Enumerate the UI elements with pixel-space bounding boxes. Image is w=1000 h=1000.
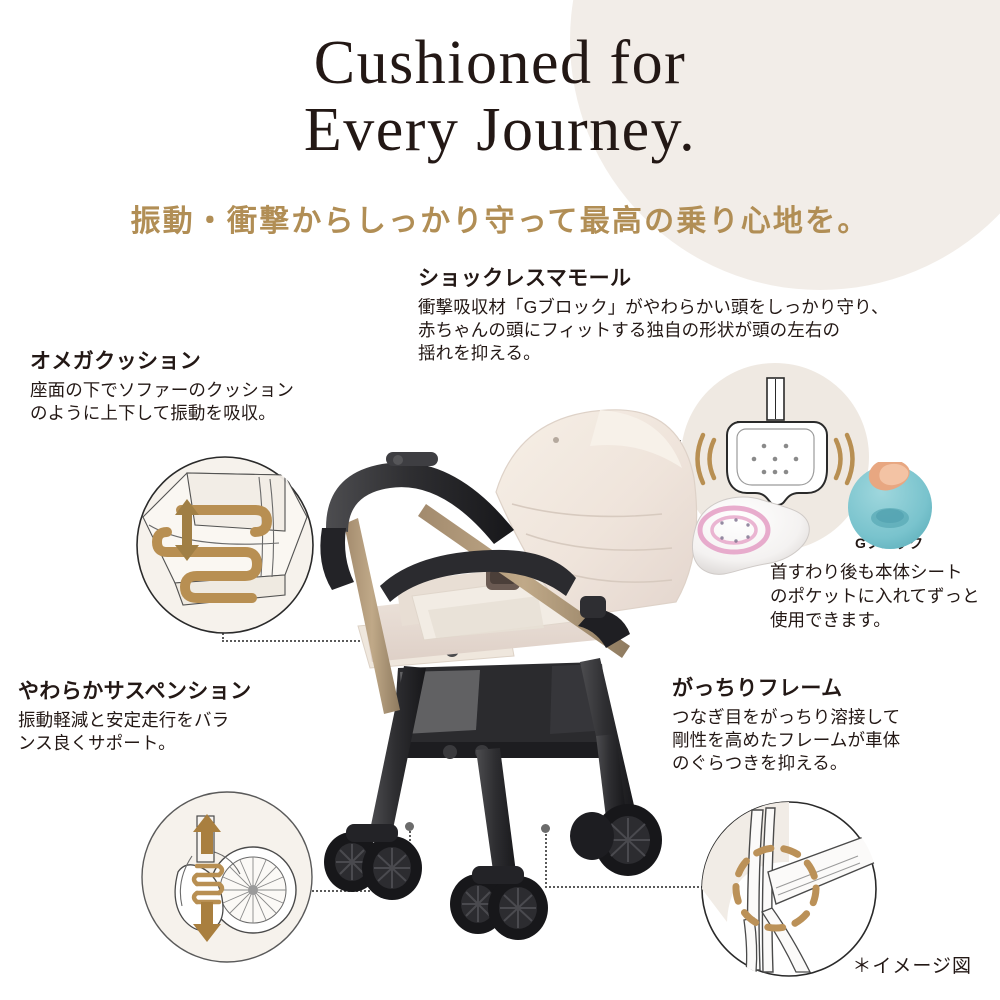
title-line-2: Every Journey. — [0, 97, 1000, 164]
feature-omega-line-2: のように上下して振動を吸収。 — [30, 402, 294, 425]
suspension-spring-icon — [140, 790, 315, 965]
feature-suspension-body: 振動軽減と安定走行をバラ ンス良くサポート。 — [18, 709, 252, 755]
feature-frame: がっちりフレーム つなぎ目をがっちり溶接して 剛性を高めたフレームが車体 のぐら… — [672, 672, 900, 775]
feature-frame-line-1: つなぎ目をがっちり溶接して — [672, 706, 900, 729]
feature-omega: オメガクッション 座面の下でソファーのクッション のように上下して振動を吸収。 — [30, 345, 294, 425]
feature-frame-line-3: のぐらつきを抑える。 — [672, 752, 900, 775]
feature-omega-title: オメガクッション — [30, 345, 294, 375]
feature-shockless: ショックレスマモール 衝撃吸収材「Gブロック」がやわらかい頭をしっかり守り、 赤… — [418, 262, 889, 365]
gblock-note-line-3: 使用できます。 — [770, 608, 979, 632]
feature-shockless-title: ショックレスマモール — [418, 262, 889, 292]
feature-shockless-line-1: 衝撃吸収材「Gブロック」がやわらかい頭をしっかり守り、 — [418, 296, 889, 319]
page-title: Cushioned for Every Journey. — [0, 30, 1000, 164]
feature-suspension: やわらかサスペンション 振動軽減と安定走行をバラ ンス良くサポート。 — [18, 675, 252, 755]
wheel-rear-right — [570, 804, 662, 876]
feature-frame-line-2: 剛性を高めたフレームが車体 — [672, 729, 900, 752]
wheel-rear-left — [324, 824, 422, 900]
image-disclaimer: ＊イメージ図 — [852, 951, 972, 978]
feature-suspension-title: やわらかサスペンション — [18, 675, 252, 705]
feature-shockless-body: 衝撃吸収材「Gブロック」がやわらかい頭をしっかり守り、 赤ちゃんの頭にフィットす… — [418, 296, 889, 365]
poster-canvas: Cushioned for Every Journey. 振動・衝撃からしっかり… — [0, 0, 1000, 1000]
frame-weld-icon — [700, 800, 878, 978]
feature-omega-line-1: 座面の下でソファーのクッション — [30, 379, 294, 402]
feature-suspension-line-2: ンス良くサポート。 — [18, 732, 252, 755]
wheel-front-left — [450, 866, 548, 940]
title-line-1: Cushioned for — [0, 30, 1000, 97]
feature-frame-title: がっちりフレーム — [672, 672, 900, 702]
stroller-product-icon — [300, 400, 700, 945]
page-subtitle: 振動・衝撃からしっかり守って最高の乗り心地を。 — [0, 196, 1000, 240]
omega-cushion-icon — [135, 455, 315, 635]
feature-frame-body: つなぎ目をがっちり溶接して 剛性を高めたフレームが車体 のぐらつきを抑える。 — [672, 706, 900, 775]
gblock-foam-icon — [845, 462, 935, 557]
feature-suspension-line-1: 振動軽減と安定走行をバラ — [18, 709, 252, 732]
feature-shockless-line-2: 赤ちゃんの頭にフィットする独自の形状が頭の左右の — [418, 319, 889, 342]
feature-shockless-line-3: 揺れを抑える。 — [418, 342, 889, 365]
feature-omega-body: 座面の下でソファーのクッション のように上下して振動を吸収。 — [30, 379, 294, 425]
gblock-pad-icon — [678, 490, 813, 590]
